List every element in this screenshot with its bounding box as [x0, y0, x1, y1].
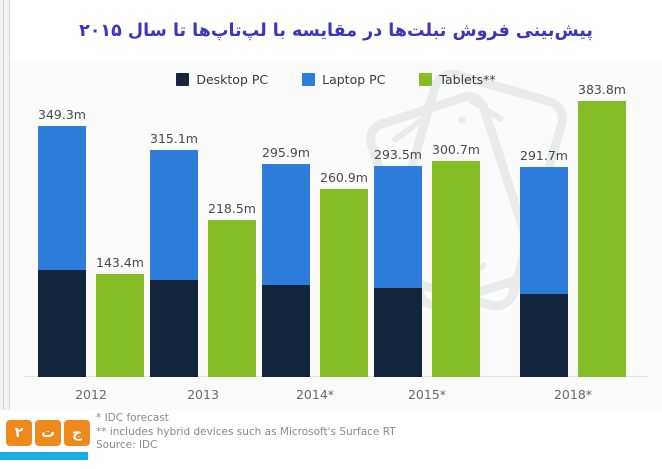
bar-segment-desktop — [374, 288, 422, 377]
bar-value-label-tablets: 383.8m — [578, 82, 626, 97]
logo-tile-3: ج — [64, 420, 90, 446]
bar-segment-laptop — [150, 150, 198, 280]
bar-segment-laptop — [374, 166, 422, 289]
infographic-root: پیش‌بینی فروش تبلت‌ها در مقایسه با لپ‌تا… — [0, 0, 662, 469]
bar-value-label-tablets: 218.5m — [208, 201, 256, 216]
bar-pc-2015[interactable]: 293.5m — [374, 166, 422, 377]
bar-value-label-pc: 293.5m — [374, 147, 422, 162]
bar-segment-laptop — [38, 126, 86, 271]
title-card: پیش‌بینی فروش تبلت‌ها در مقایسه با لپ‌تا… — [24, 0, 648, 62]
bar-value-label-pc: 315.1m — [150, 131, 198, 146]
bar-segment-desktop — [150, 280, 198, 377]
bar-segment-laptop — [262, 164, 310, 285]
footnote-source: Source: IDC — [96, 439, 426, 453]
bar-segment-desktop — [520, 294, 568, 377]
footnotes: * IDC forecast ** includes hybrid device… — [96, 412, 426, 453]
bar-group-2015: 293.5m300.7m — [374, 161, 480, 378]
bar-group-2018: 291.7m383.8m — [520, 101, 626, 377]
bar-value-label-pc: 349.3m — [38, 107, 86, 122]
bar-group-2012: 349.3m143.4m — [38, 126, 144, 377]
publisher-logo[interactable]: ۲ ت ج — [6, 420, 90, 446]
chart-plot-area: 349.3m143.4m315.1m218.5m295.9m260.9m293.… — [10, 62, 662, 410]
x-tick-2018: 2018* — [520, 387, 626, 402]
footnote-forecast: * IDC forecast — [96, 412, 426, 426]
bar-value-label-pc: 295.9m — [262, 145, 310, 160]
bar-segment-desktop — [38, 270, 86, 377]
x-tick-2012: 2012 — [38, 387, 144, 402]
x-tick-2015: 2015* — [374, 387, 480, 402]
logo-underline — [0, 452, 88, 460]
bar-pc-2012[interactable]: 349.3m — [38, 126, 86, 377]
bar-tablets-2018[interactable]: 383.8m — [578, 101, 626, 377]
bar-tablets-2013[interactable]: 218.5m — [208, 220, 256, 377]
bar-group-2013: 315.1m218.5m — [150, 150, 256, 377]
bar-tablets-2014[interactable]: 260.9m — [320, 189, 368, 377]
footnote-hybrid: ** includes hybrid devices such as Micro… — [96, 426, 426, 440]
gutter-rule-1 — [3, 0, 4, 469]
logo-tile-2: ت — [35, 420, 61, 446]
bar-value-label-pc: 291.7m — [520, 148, 568, 163]
bar-pc-2018[interactable]: 291.7m — [520, 167, 568, 377]
bar-tablets-2012[interactable]: 143.4m — [96, 274, 144, 377]
page-title: پیش‌بینی فروش تبلت‌ها در مقایسه با لپ‌تا… — [24, 0, 648, 62]
bar-group-2014: 295.9m260.9m — [262, 164, 368, 377]
x-tick-2014: 2014* — [262, 387, 368, 402]
bar-value-label-tablets: 300.7m — [432, 142, 480, 157]
x-tick-2013: 2013 — [150, 387, 256, 402]
bar-segment-laptop — [520, 167, 568, 294]
logo-tile-1: ۲ — [6, 420, 32, 446]
bar-value-label-tablets: 143.4m — [96, 255, 144, 270]
title-band: پیش‌بینی فروش تبلت‌ها در مقایسه با لپ‌تا… — [10, 0, 662, 62]
bar-value-label-tablets: 260.9m — [320, 170, 368, 185]
bar-segment-desktop — [262, 285, 310, 377]
bar-tablets-2015[interactable]: 300.7m — [432, 161, 480, 378]
bar-pc-2014[interactable]: 295.9m — [262, 164, 310, 377]
bar-pc-2013[interactable]: 315.1m — [150, 150, 198, 377]
